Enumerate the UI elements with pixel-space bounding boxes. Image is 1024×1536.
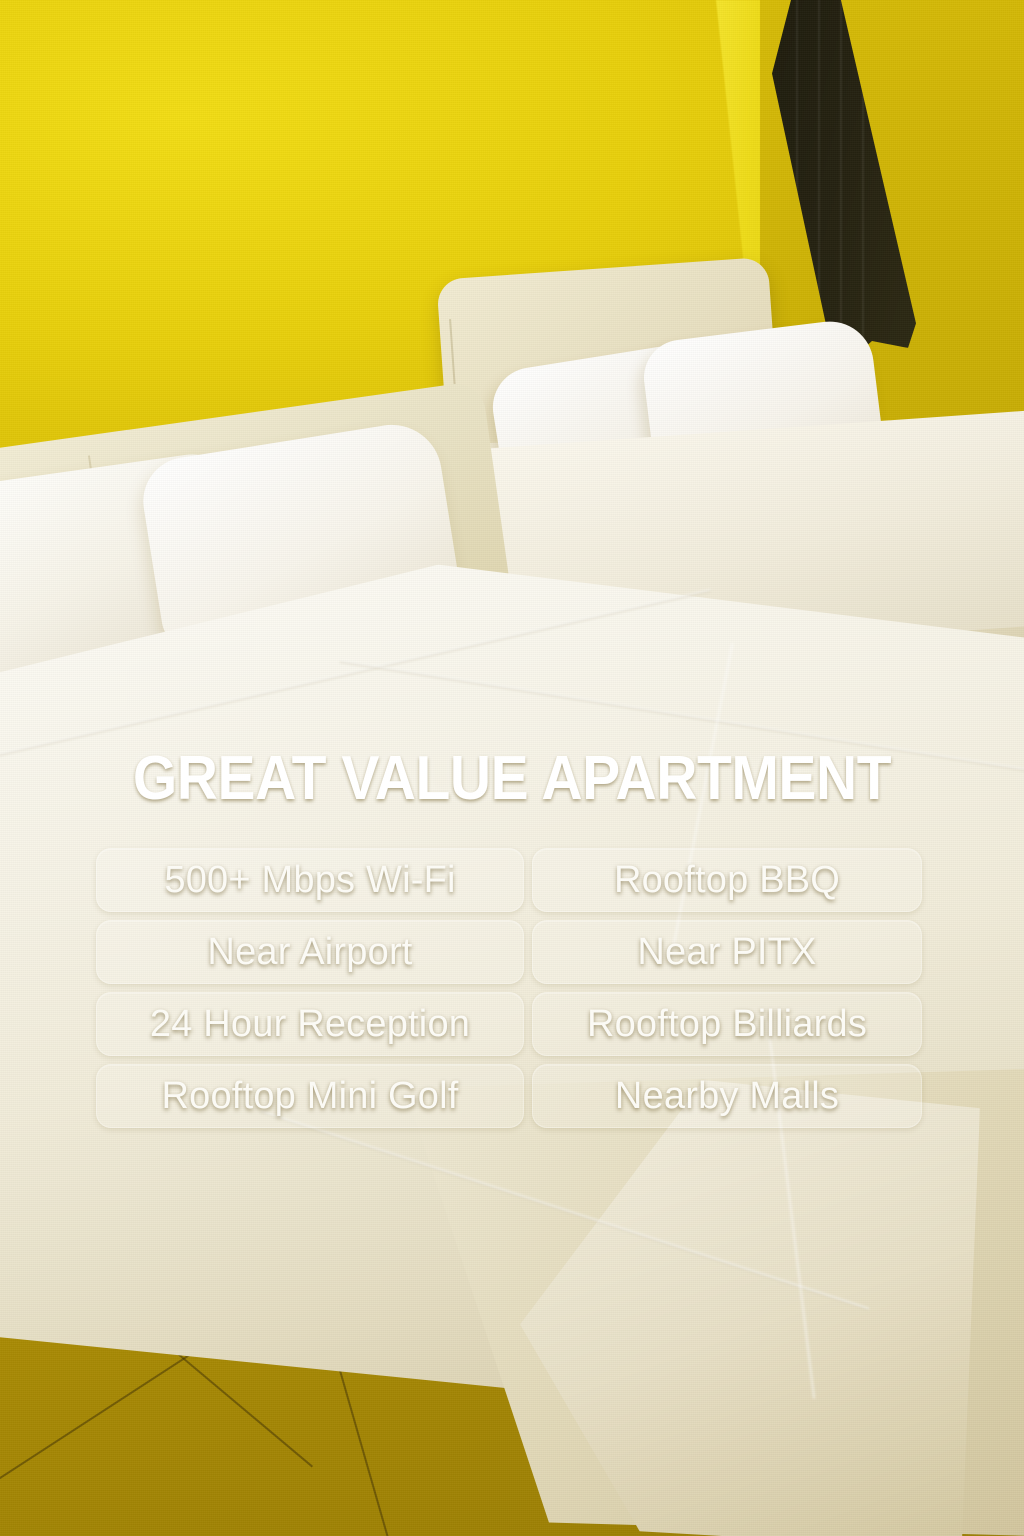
feature-badge-24-hour-reception[interactable]: 24 Hour Reception	[96, 992, 524, 1056]
feature-badge-near-airport[interactable]: Near Airport	[96, 920, 524, 984]
feature-badge-grid: 500+ Mbps Wi-Fi Rooftop BBQ Near Airport…	[96, 848, 922, 1128]
feature-badge-rooftop-billiards[interactable]: Rooftop Billiards	[532, 992, 922, 1056]
promo-poster: GREAT VALUE APARTMENT 500+ Mbps Wi-Fi Ro…	[0, 0, 1024, 1536]
page-title: GREAT VALUE APARTMENT	[41, 748, 983, 810]
feature-badge-near-pitx[interactable]: Near PITX	[532, 920, 922, 984]
feature-badge-rooftop-mini-golf[interactable]: Rooftop Mini Golf	[96, 1064, 524, 1128]
feature-badge-rooftop-bbq[interactable]: Rooftop BBQ	[532, 848, 922, 912]
feature-badge-nearby-malls[interactable]: Nearby Malls	[532, 1064, 922, 1128]
text-overlay: GREAT VALUE APARTMENT 500+ Mbps Wi-Fi Ro…	[0, 0, 1024, 1536]
feature-badge-wifi[interactable]: 500+ Mbps Wi-Fi	[96, 848, 524, 912]
